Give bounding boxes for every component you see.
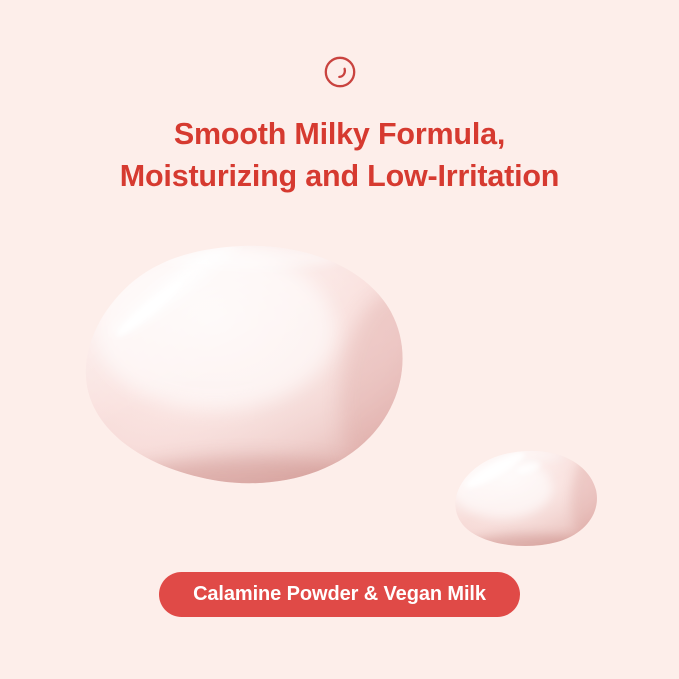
headline-line-1: Smooth Milky Formula,: [0, 113, 679, 155]
status-badge[interactable]: Calamine Powder & Vegan Milk: [159, 572, 520, 617]
icon-row: [0, 52, 679, 96]
headline-line-2: Moisturizing and Low-Irritation: [0, 155, 679, 197]
small-milky-droplet: [449, 447, 623, 578]
product-feature-poster: Smooth Milky Formula, Moisturizing and L…: [0, 0, 679, 679]
page-title: Smooth Milky Formula, Moisturizing and L…: [0, 113, 679, 197]
badge-row: Calamine Powder & Vegan Milk: [0, 572, 679, 617]
large-milky-droplet: [85, 232, 460, 553]
droplet-ring-icon: [320, 52, 360, 97]
